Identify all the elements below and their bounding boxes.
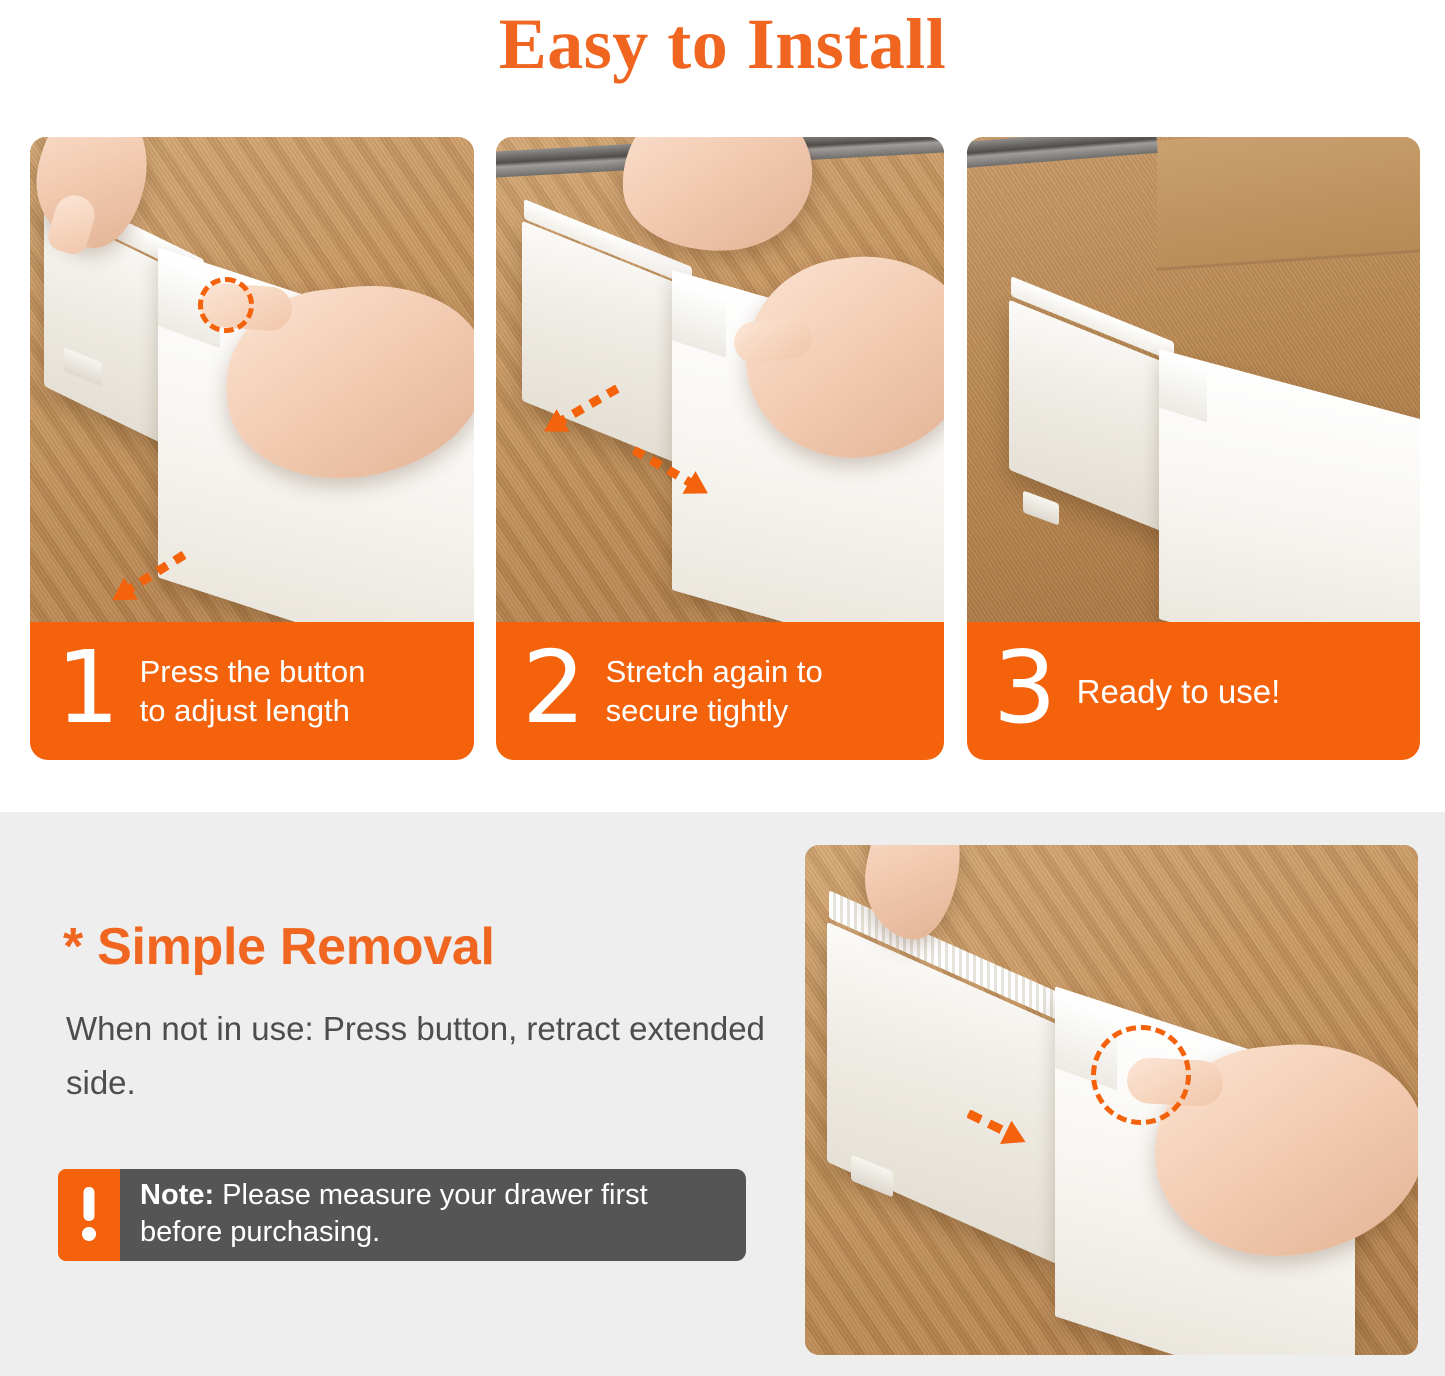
- step-panel-2: 2 Stretch again to secure tightly: [496, 137, 944, 765]
- step-caption-1: 1 Press the button to adjust length: [30, 622, 474, 760]
- exclamation-dot: [82, 1227, 96, 1241]
- step-caption-2: 2 Stretch again to secure tightly: [496, 622, 944, 760]
- step-label-1: Press the button to adjust length: [140, 652, 366, 730]
- button-highlight-circle: [1091, 1025, 1191, 1125]
- step-photo-2: [496, 137, 944, 622]
- step-panel-1: 1 Press the button to adjust length: [30, 137, 474, 765]
- note-label: Note:: [140, 1179, 214, 1211]
- step-number-3: 3: [993, 638, 1057, 738]
- step-line-2: to adjust length: [140, 691, 366, 730]
- step-line-1: Ready to use!: [1077, 672, 1281, 711]
- install-steps: 1 Press the button to adjust length: [0, 137, 1445, 765]
- step-label-3: Ready to use!: [1077, 672, 1281, 711]
- drawer-back-wall: [1157, 137, 1420, 271]
- step-panel-3: 3 Ready to use!: [967, 137, 1420, 765]
- step-label-2: Stretch again to secure tightly: [606, 652, 823, 730]
- page-title: Easy to Install: [0, 2, 1445, 86]
- step-photo-3: [967, 137, 1420, 622]
- button-highlight-circle: [198, 277, 254, 333]
- step-photo-1: [30, 137, 474, 622]
- note-text: Note: Please measure your drawer first b…: [120, 1169, 746, 1261]
- step-number-2: 2: [522, 638, 586, 738]
- note-box: Note: Please measure your drawer first b…: [58, 1169, 746, 1261]
- note-message: Please measure your drawer first before …: [140, 1179, 648, 1248]
- removal-heading: * Simple Removal: [63, 917, 495, 977]
- infographic-page: Easy to Install: [0, 0, 1445, 1376]
- removal-photo: [805, 845, 1418, 1355]
- simple-removal-section: * Simple Removal When not in use: Press …: [0, 812, 1445, 1376]
- removal-body-text: When not in use: Press button, retract e…: [66, 1002, 776, 1110]
- exclamation-bar: [84, 1187, 95, 1221]
- step-number-1: 1: [56, 638, 120, 738]
- exclamation-icon: [58, 1169, 120, 1261]
- step-caption-3: 3 Ready to use!: [967, 622, 1420, 760]
- step-line-1: Press the button: [140, 652, 366, 691]
- step-line-1: Stretch again to: [606, 652, 823, 691]
- step-line-2: secure tightly: [606, 691, 823, 730]
